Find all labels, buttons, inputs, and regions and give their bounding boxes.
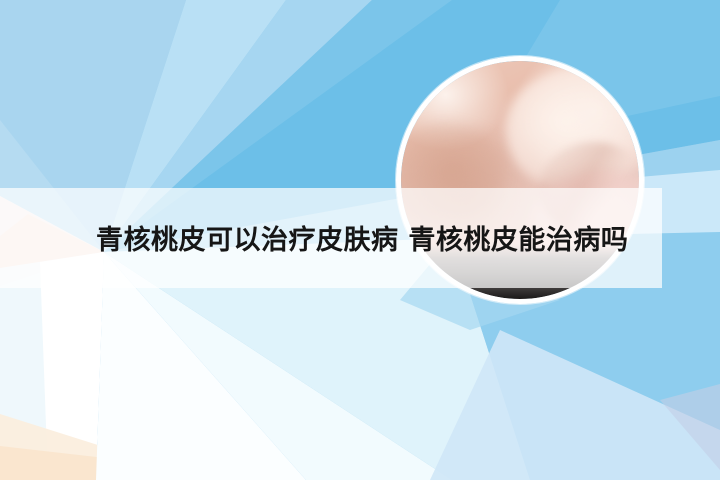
article-thumbnail-banner: 青核桃皮可以治疗皮肤病 青核桃皮能治病吗	[0, 0, 720, 480]
page-title: 青核桃皮可以治疗皮肤病 青核桃皮能治病吗	[96, 224, 656, 258]
